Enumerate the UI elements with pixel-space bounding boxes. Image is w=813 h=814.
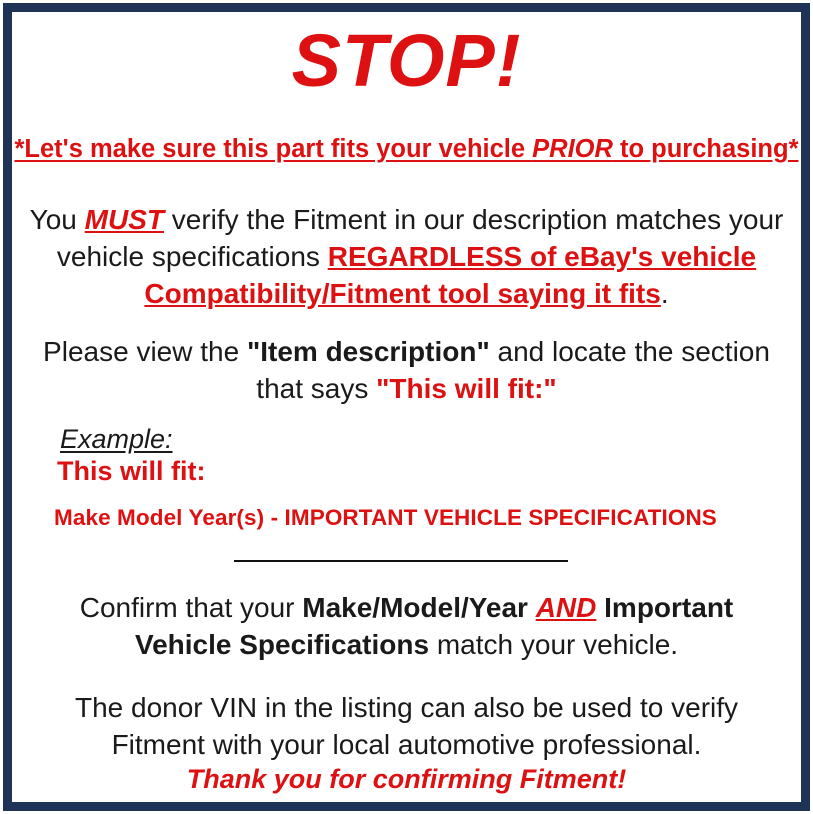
page-title: STOP! <box>12 22 801 100</box>
fitment-notice-body: STOP! *Let's make sure this part fits yo… <box>12 12 801 802</box>
closing-thank-you: Thank you for confirming Fitment! <box>12 764 801 795</box>
confirm-seg5 <box>596 592 604 623</box>
must-seg1: You <box>30 204 85 235</box>
subtitle-prefix: *Let's make sure this part fits your veh… <box>14 135 532 163</box>
paragraph-confirm: Confirm that your Make/Model/Year AND Im… <box>28 590 785 664</box>
section-divider <box>234 560 568 562</box>
confirm-seg7: match your vehicle. <box>429 629 678 660</box>
fitment-notice-frame: STOP! *Let's make sure this part fits yo… <box>3 3 810 811</box>
paragraph-donor-vin: The donor VIN in the listing can also be… <box>28 690 785 764</box>
item-description-label: "Item description" <box>247 336 490 367</box>
example-label: Example: <box>60 424 173 455</box>
paragraph-item-description: Please view the "Item description" and l… <box>28 334 785 408</box>
must-emphasis: MUST <box>85 204 164 235</box>
subtitle-emphasis-prior: PRIOR <box>532 135 613 163</box>
this-will-fit-quote: "This will fit:" <box>376 373 557 404</box>
example-spec-line: Make Model Year(s) - IMPORTANT VEHICLE S… <box>54 505 717 531</box>
confirm-seg1: Confirm that your <box>80 592 303 623</box>
subtitle-warning: *Let's make sure this part fits your veh… <box>12 134 801 166</box>
paragraph-must-verify: You MUST verify the Fitment in our descr… <box>28 202 785 313</box>
must-seg5: . <box>661 278 669 309</box>
and-emphasis: AND <box>536 592 597 623</box>
subtitle-suffix: to purchasing* <box>613 135 799 163</box>
make-model-year-label: Make/Model/Year <box>302 592 528 623</box>
confirm-seg3 <box>528 592 536 623</box>
example-this-will-fit: This will fit: <box>57 456 206 487</box>
itemdesc-seg1: Please view the <box>43 336 247 367</box>
